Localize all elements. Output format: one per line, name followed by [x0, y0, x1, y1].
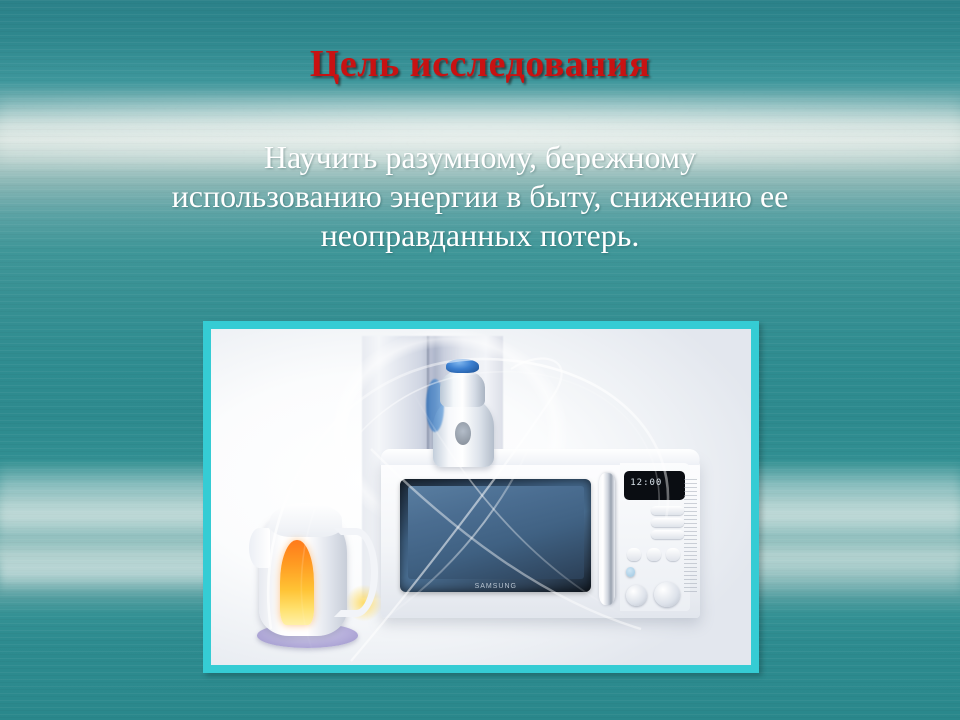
- microwave-control-panel: 12:00: [620, 463, 690, 611]
- microwave-button-3: [651, 530, 685, 539]
- microwave-door-handle: [599, 473, 615, 605]
- microwave-button-4: [627, 548, 641, 561]
- bottle-spout: [455, 422, 471, 446]
- electric-kettle: [249, 494, 379, 649]
- microwave-oven: SAMSUNG 12:00: [381, 457, 700, 618]
- slide-body-text: Научить разумному, бережному использован…: [46, 138, 914, 255]
- kettle-spout: [249, 528, 270, 568]
- microwave-knob-left: [626, 585, 647, 606]
- microwave-indicator-light: [626, 567, 636, 577]
- microwave-button-2: [651, 518, 685, 527]
- microwave-knob-right: [654, 582, 681, 607]
- microwave-button-1: [651, 506, 685, 515]
- body-line-2: использованию энергии в быту, снижению е…: [46, 177, 914, 216]
- microwave-window-glass: [408, 486, 584, 579]
- bottle-neck: [440, 370, 485, 407]
- appliances-photo: SAMSUNG 12:00: [211, 329, 751, 665]
- body-line-1: Научить разумному, бережному: [46, 138, 914, 177]
- water-dispenser-bottle: [427, 359, 500, 467]
- kettle-water-level-window: [280, 540, 314, 625]
- microwave-door-window: SAMSUNG: [400, 479, 591, 592]
- microwave-side-vent: [684, 479, 697, 592]
- microwave-clock-digits: 12:00: [630, 478, 662, 488]
- microwave-button-6: [666, 548, 680, 561]
- body-line-3: неоправданных потерь.: [46, 216, 914, 255]
- slide: Цель исследования Научить разумному, бер…: [0, 0, 960, 720]
- slide-title: Цель исследования: [0, 42, 960, 86]
- photo-frame: SAMSUNG 12:00: [203, 321, 759, 673]
- microwave-display: 12:00: [624, 471, 684, 501]
- microwave-brand-label: SAMSUNG: [475, 583, 517, 590]
- microwave-button-5: [647, 548, 661, 561]
- bottle-cap: [446, 359, 480, 373]
- kettle-lid: [270, 503, 343, 537]
